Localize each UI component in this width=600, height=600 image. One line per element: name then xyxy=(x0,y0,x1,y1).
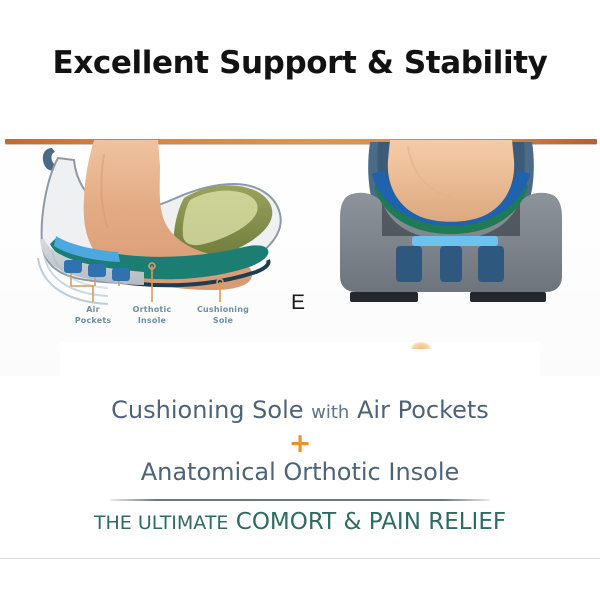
footer-space xyxy=(0,559,600,600)
product-feature-card: Excellent Support & Stability xyxy=(0,0,600,600)
hero-bottom-panel xyxy=(60,342,540,376)
benefit-line-orthotic: Anatomical Orthotic Insole xyxy=(0,458,600,486)
ground-bar-right xyxy=(470,292,546,302)
callout-orthotic-insole-line2: Insole xyxy=(138,316,166,325)
tread-pod-center xyxy=(440,246,462,282)
hero-illustration-band: Air Pockets Orthotic Insole Cushioning S… xyxy=(0,126,600,376)
benefits-block: Cushioning Sole with Air Pockets + Anato… xyxy=(0,376,600,558)
tread-pod-left xyxy=(396,246,422,282)
stray-letter-e: E xyxy=(291,292,305,313)
title-bar: Excellent Support & Stability xyxy=(0,0,600,126)
shoe-side-view-illustration: Air Pockets Orthotic Insole Cushioning S… xyxy=(8,140,308,340)
tagline-main: COMORT & PAIN RELIEF xyxy=(236,509,506,535)
callout-cushioning-sole-line2: Sole xyxy=(213,316,233,325)
air-strip-compressed xyxy=(412,236,498,246)
shoe-front-view-svg xyxy=(330,140,580,340)
air-pocket-3 xyxy=(112,268,130,281)
benefit-line-cushioning: Cushioning Sole with Air Pockets xyxy=(0,396,600,424)
tread-pod-right xyxy=(478,246,504,282)
tagline-prefix: THE ULTIMATE xyxy=(94,512,229,534)
air-pocket-2 xyxy=(88,264,106,277)
benefit-cushioning-sole: Cushioning Sole xyxy=(111,396,303,424)
air-pocket-1 xyxy=(64,260,82,273)
callout-cushioning-sole: Cushioning Sole xyxy=(188,304,258,326)
partial-orange-icon xyxy=(411,342,431,349)
callout-cushioning-sole-line1: Cushioning xyxy=(197,305,249,314)
ground-bar-left xyxy=(350,292,418,302)
shoe-front-view-illustration xyxy=(330,140,580,340)
callout-orthotic-insole-line1: Orthotic xyxy=(133,305,172,314)
callout-air-pockets-line2: Pockets xyxy=(75,316,112,325)
page-title: Excellent Support & Stability xyxy=(53,45,548,81)
benefit-air-pockets: Air Pockets xyxy=(357,396,489,424)
benefit-connector-with: with xyxy=(311,402,349,423)
benefit-tagline: THE ULTIMATE COMORT & PAIN RELIEF xyxy=(0,509,600,535)
plus-icon: + xyxy=(0,430,600,457)
callout-air-pockets-line1: Air xyxy=(86,305,99,314)
callout-air-pockets: Air Pockets xyxy=(66,304,120,326)
benefits-divider xyxy=(110,499,490,501)
callout-orthotic-insole: Orthotic Insole xyxy=(121,304,183,326)
